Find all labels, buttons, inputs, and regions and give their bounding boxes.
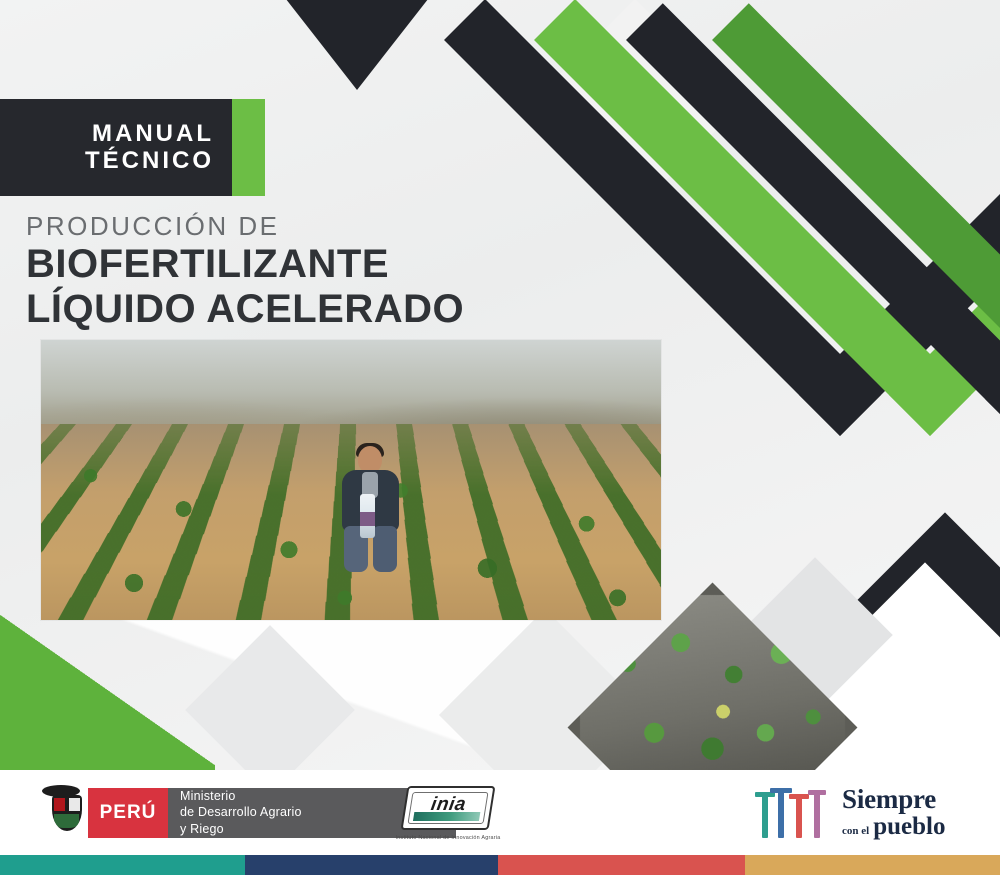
shield-wreath <box>42 785 80 797</box>
chakana-crossbar-2 <box>770 788 792 793</box>
decor-diamond-top <box>529 0 741 211</box>
colorbar-segment-gold <box>745 855 1000 875</box>
shield-quarter-3 <box>54 814 79 828</box>
bottom-color-bar <box>0 855 1000 875</box>
title-line-2: LÍQUIDO ACELERADO <box>26 288 464 331</box>
decor-triangle-bottom-green <box>0 610 215 770</box>
siempre-con-el-pueblo-logo: Siempre con el pueblo <box>762 784 945 840</box>
title-line-1: BIOFERTILIZANTE <box>26 243 464 286</box>
badge-line-tecnico: TÉCNICO <box>85 148 214 175</box>
peru-wordmark: PERÚ <box>88 788 168 838</box>
badge-line-manual: MANUAL <box>92 121 214 148</box>
badge-box: MANUAL TÉCNICO <box>0 99 232 196</box>
siempre-line-1: Siempre <box>842 786 945 813</box>
chakana-stick-4 <box>814 790 820 838</box>
chevron-black-inner <box>626 0 1000 436</box>
siempre-wordmark: Siempre con el pueblo <box>842 786 945 839</box>
inia-subtitle: Instituto Nacional de Innovación Agraria <box>388 835 508 841</box>
chakana-crossbar-4 <box>808 790 826 795</box>
inia-mark-icon: inia <box>401 786 496 830</box>
chakana-stick-2 <box>778 788 784 838</box>
siempre-pueblo: pueblo <box>873 814 945 839</box>
colorbar-segment-teal <box>0 855 245 875</box>
manual-tecnico-badge: MANUAL TÉCNICO <box>0 99 265 196</box>
chevron-green-inner <box>712 0 1000 436</box>
title-kicker: PRODUCCIÓN DE <box>26 212 464 241</box>
bottle-label <box>360 512 375 526</box>
page-title: PRODUCCIÓN DE BIOFERTILIZANTE LÍQUIDO AC… <box>26 212 464 331</box>
chakana-stick-1 <box>762 792 768 838</box>
inia-bar <box>413 812 480 821</box>
farmer-head <box>358 446 382 473</box>
siempre-line-2: con el pueblo <box>842 814 945 839</box>
shield-body <box>52 795 82 831</box>
chakana-sticks-icon <box>762 786 832 838</box>
inia-logo: inia Instituto Nacional de Innovación Ag… <box>388 786 508 841</box>
chakana-stick-3 <box>796 794 802 838</box>
colorbar-segment-red <box>498 855 745 875</box>
siempre-con-el: con el <box>842 826 869 837</box>
badge-green-accent <box>232 99 265 196</box>
manual-cover-page: MANUAL TÉCNICO PRODUCCIÓN DE BIOFERTILIZ… <box>0 0 1000 875</box>
footer: PERÚ Ministerio de Desarrollo Agrario y … <box>0 770 1000 855</box>
field-photo <box>41 340 661 620</box>
farmer-leg-right <box>373 526 397 572</box>
shield-quarter-1 <box>54 798 65 811</box>
chakana-crossbar-3 <box>789 794 809 799</box>
colorbar-segment-navy <box>245 855 498 875</box>
decor-triangle-top-black <box>232 0 482 90</box>
peru-coat-of-arms-icon <box>46 788 88 838</box>
logo-row: PERÚ Ministerio de Desarrollo Agrario y … <box>0 770 1000 855</box>
photo-farmer <box>332 446 410 576</box>
shield-quarter-2 <box>69 798 80 811</box>
